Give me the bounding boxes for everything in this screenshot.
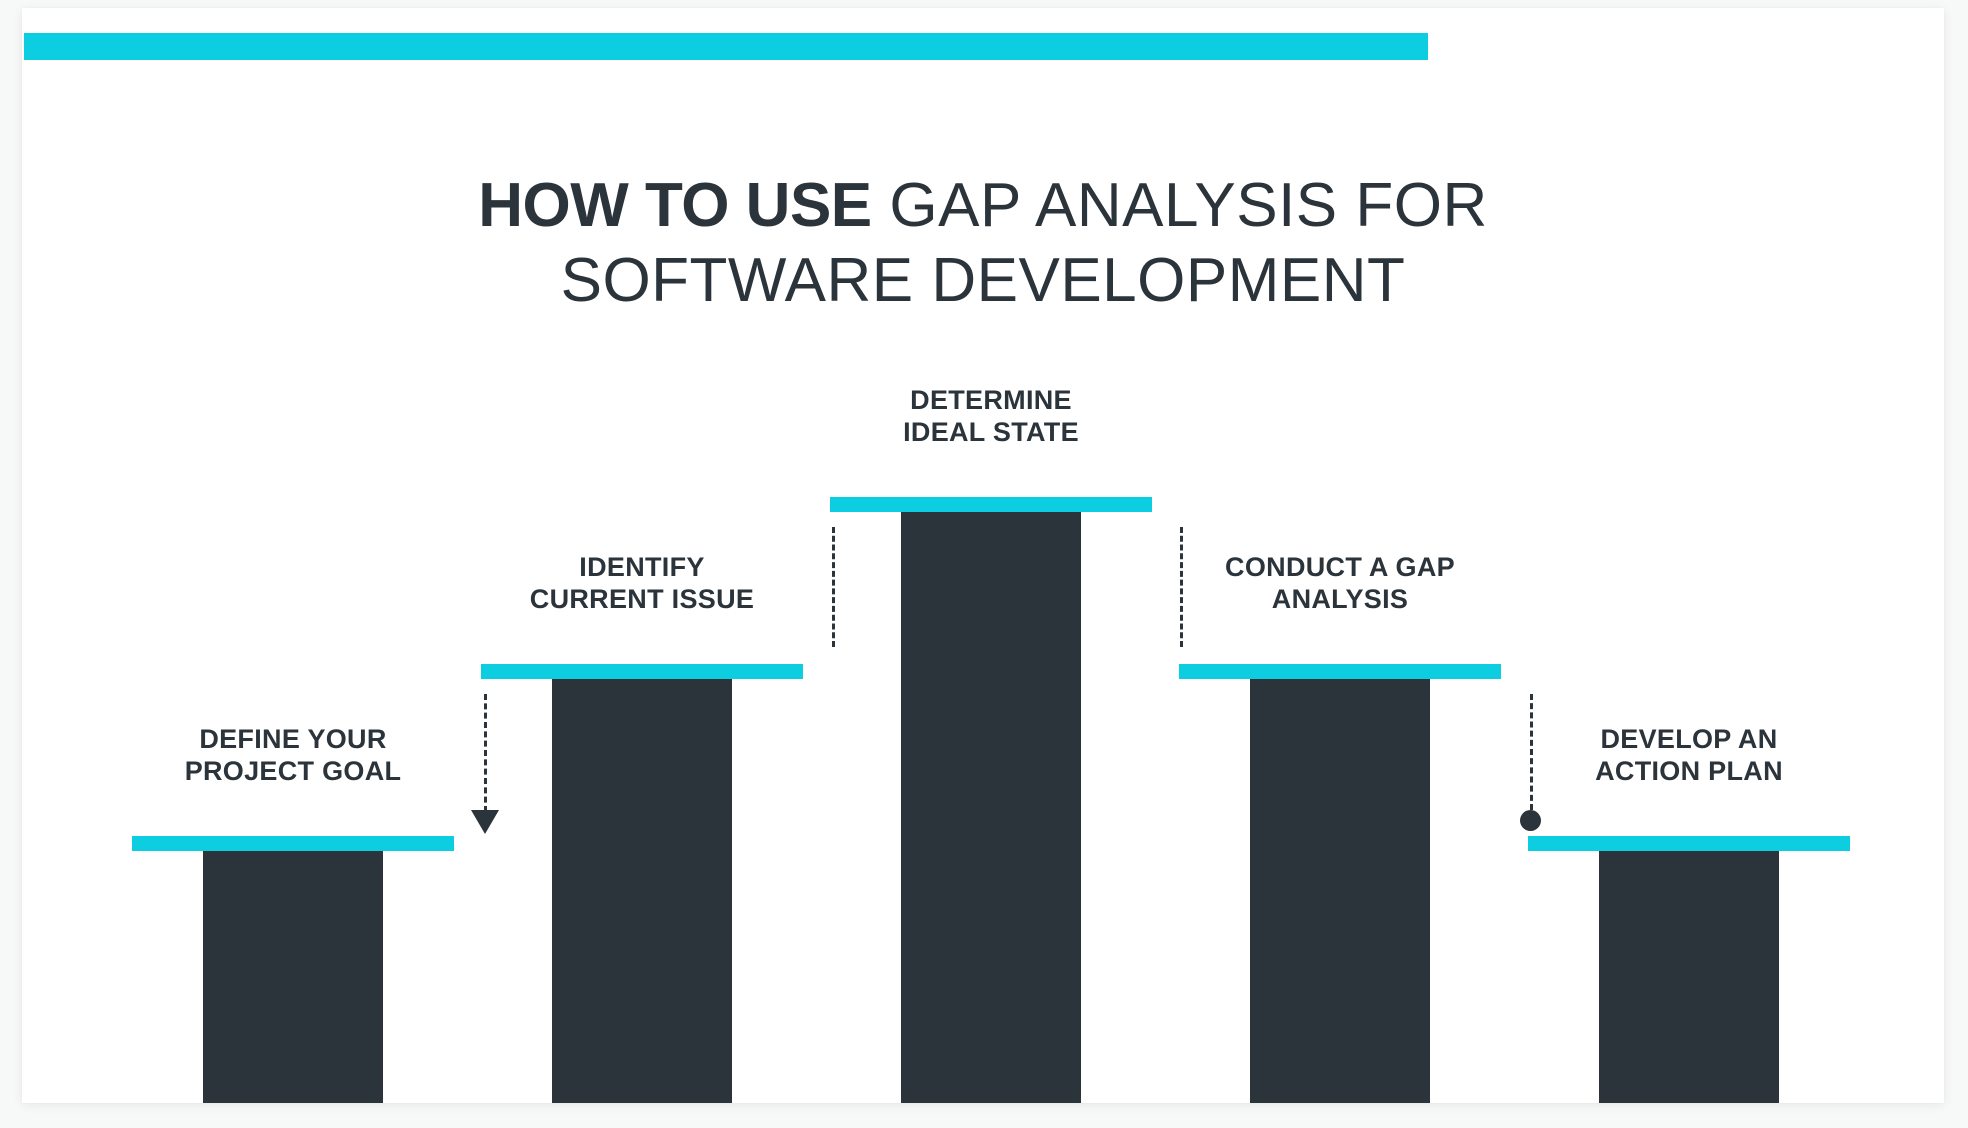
connector-dot-icon xyxy=(1520,810,1541,831)
step-bar-3 xyxy=(901,512,1081,1103)
connector-dashed-line xyxy=(832,527,835,647)
connector-dashed-line xyxy=(484,694,487,812)
step-cap-4 xyxy=(1179,664,1501,679)
step-cap-1 xyxy=(132,836,454,851)
arrow-down-icon xyxy=(471,810,499,834)
step-column-4[interactable]: CONDUCT A GAP ANALYSIS xyxy=(1179,664,1501,1103)
step-label-3: DETERMINE IDEAL STATE xyxy=(830,385,1152,449)
step-bar-5 xyxy=(1599,851,1779,1103)
step-bar-1 xyxy=(203,851,383,1103)
slide-card: HOW TO USE GAP ANALYSIS FOR SOFTWARE DEV… xyxy=(22,8,1944,1103)
gap-analysis-chart: DEFINE YOUR PROJECT GOAL IDENTIFY CURREN… xyxy=(22,8,1944,1103)
step-column-3[interactable]: DETERMINE IDEAL STATE xyxy=(830,497,1152,1103)
step-label-4: CONDUCT A GAP ANALYSIS xyxy=(1179,552,1501,616)
step-cap-2 xyxy=(481,664,803,679)
connector-dashed-line xyxy=(1180,527,1183,647)
step-label-2: IDENTIFY CURRENT ISSUE xyxy=(481,552,803,616)
slide-canvas: HOW TO USE GAP ANALYSIS FOR SOFTWARE DEV… xyxy=(0,0,1968,1128)
step-column-2[interactable]: IDENTIFY CURRENT ISSUE xyxy=(481,664,803,1103)
step-column-5[interactable]: DEVELOP AN ACTION PLAN xyxy=(1528,836,1850,1103)
step-cap-3 xyxy=(830,497,1152,512)
step-cap-5 xyxy=(1528,836,1850,851)
step-bar-4 xyxy=(1250,679,1430,1103)
step-label-1: DEFINE YOUR PROJECT GOAL xyxy=(132,724,454,788)
step-column-1[interactable]: DEFINE YOUR PROJECT GOAL xyxy=(132,836,454,1103)
step-bar-2 xyxy=(552,679,732,1103)
step-label-5: DEVELOP AN ACTION PLAN xyxy=(1528,724,1850,788)
connector-dashed-line xyxy=(1530,694,1533,810)
